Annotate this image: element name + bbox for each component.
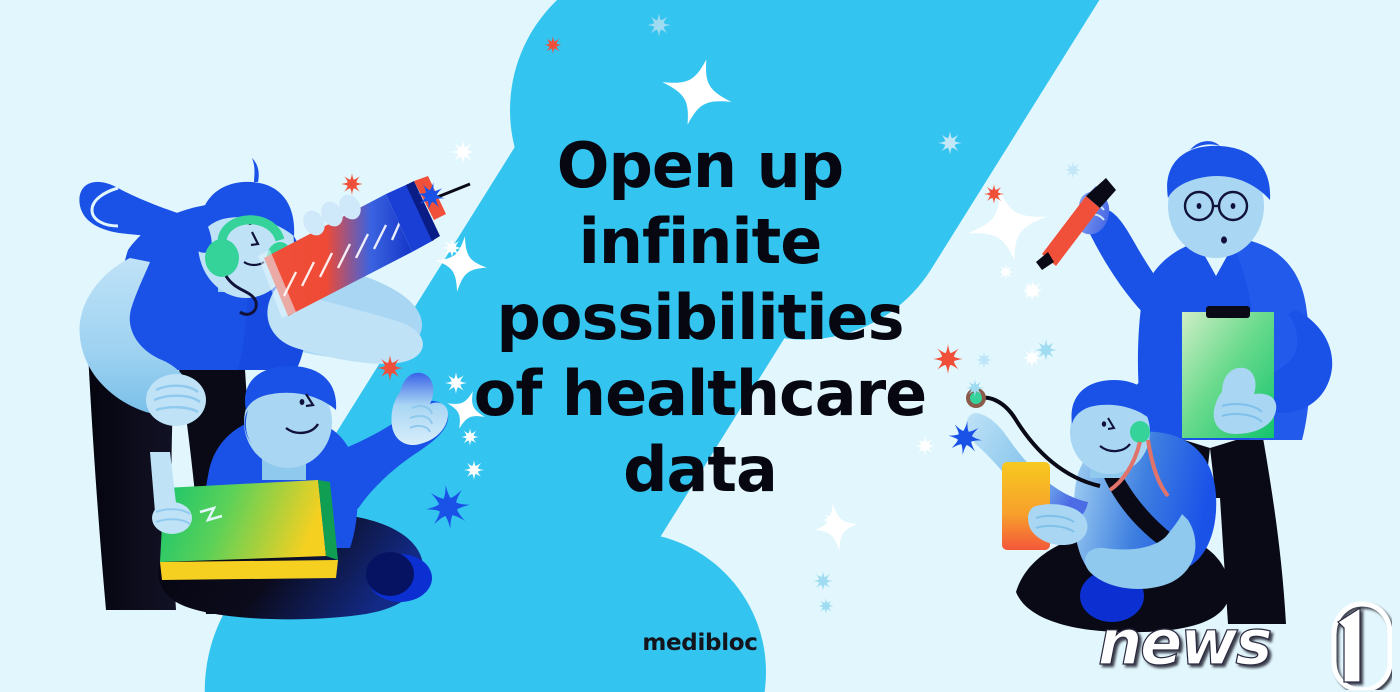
star-blue-3 (938, 411, 992, 465)
star-red-1 (540, 32, 565, 57)
star-paleblue-2 (933, 126, 967, 160)
star-white-medium-1 (446, 135, 480, 169)
star-paleblue-3 (1060, 157, 1085, 182)
star-white-medium-3 (440, 367, 471, 398)
star-white-medium-5 (460, 456, 488, 484)
star-white-large-1 (653, 49, 741, 134)
news1-watermark-text: news (1098, 606, 1270, 679)
star-paleblue-1 (642, 8, 676, 42)
star-white-large-5 (811, 500, 861, 554)
star-paleblue-4 (995, 261, 1018, 284)
star-blue-1 (408, 173, 454, 219)
star-blue-2 (414, 473, 482, 541)
brand-block: medibloc (430, 630, 970, 656)
star-white-medium-4 (457, 424, 482, 449)
star-paleblue-6 (971, 347, 996, 372)
star-red-2 (336, 168, 367, 199)
medibloc-wordmark: medibloc (642, 630, 757, 656)
star-white-large-3 (431, 233, 490, 296)
news1-numeral-ring (1334, 604, 1390, 690)
star-paleblue-8 (962, 375, 987, 400)
promo-banner: Open up infinite possibilities of health… (0, 0, 1400, 692)
star-paleblue-9 (809, 567, 837, 595)
news1-numeral-one (1338, 608, 1360, 682)
star-white-large-2 (960, 181, 1053, 268)
star-paleblue-11 (911, 432, 939, 460)
news1-watermark: news (1092, 598, 1392, 690)
star-red-4 (927, 338, 969, 380)
star-white-large-4 (440, 384, 491, 435)
sparkles-layer (0, 0, 1400, 692)
star-paleblue-10 (815, 595, 838, 618)
star-red-3 (372, 350, 409, 387)
